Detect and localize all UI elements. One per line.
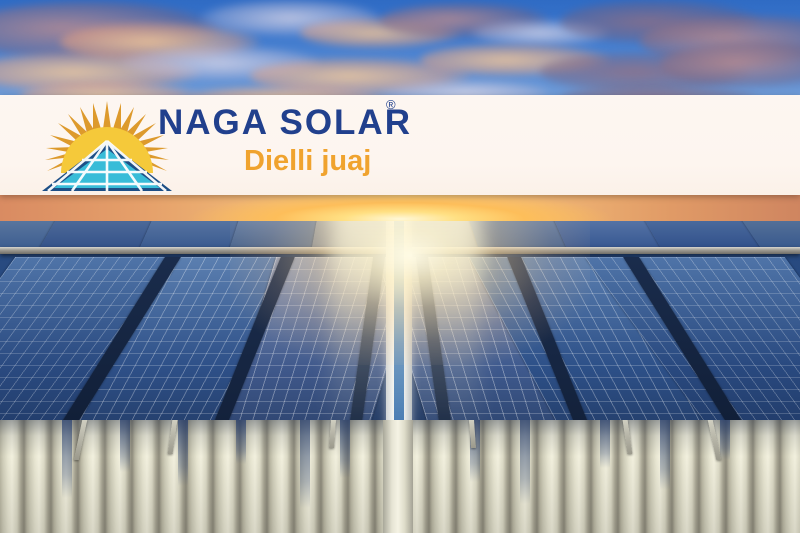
naga-solar-banner: NAGA SOLAR ® Dielli juaj Panele fotovolt… xyxy=(0,95,800,195)
list-item: Panele fotovoltaike xyxy=(528,193,746,195)
solar-banner-image: NAGA SOLAR ® Dielli juaj Panele fotovolt… xyxy=(0,0,800,533)
registered-trademark-symbol: ® xyxy=(386,97,396,112)
brand-tagline: Dielli juaj xyxy=(244,145,371,178)
brand-name: NAGA SOLAR xyxy=(158,103,412,143)
roof-center-ridge xyxy=(383,420,413,533)
corrugated-metal-roof xyxy=(0,420,800,533)
sunset-glow-band xyxy=(0,193,800,221)
solar-panel-array xyxy=(0,205,800,445)
service-list: Panele fotovoltaike Impiante fotovoltaik… xyxy=(528,193,746,195)
